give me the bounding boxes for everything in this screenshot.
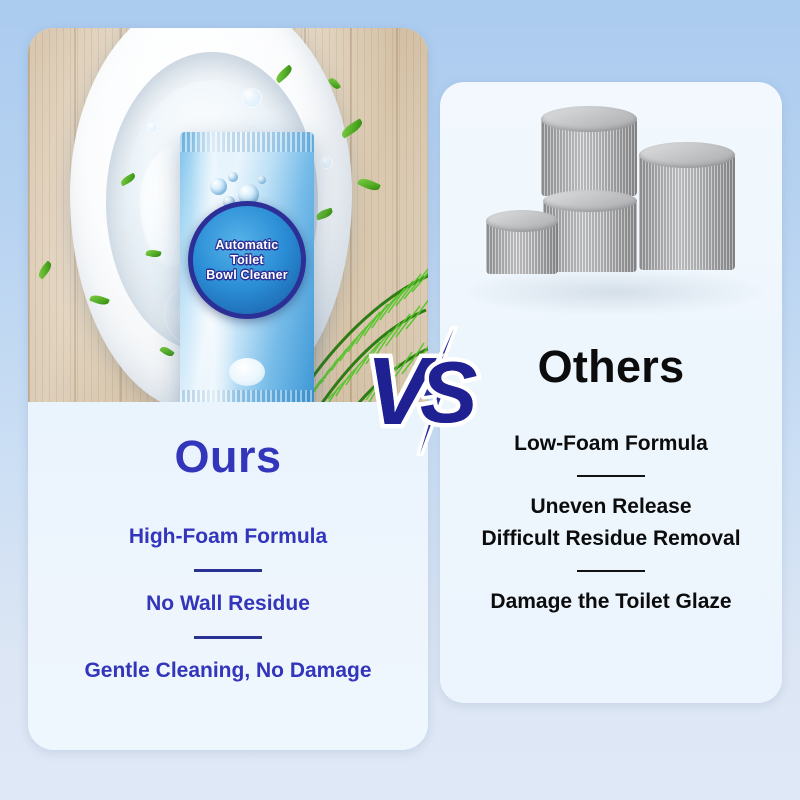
cap-shadow [458,268,768,316]
others-card[interactable]: Others Low-Foam Formula Uneven Release D… [440,82,782,703]
bottle-cap-small [486,220,558,274]
comparison-stage: Automatic Toilet Bowl Cleaner Ours High-… [0,0,800,800]
ours-separator-2 [194,636,262,639]
others-feature-1: Low-Foam Formula [514,432,708,456]
package-droplet [229,358,265,386]
bubble-icon [147,122,158,133]
ours-card[interactable]: Automatic Toilet Bowl Cleaner Ours High-… [28,28,428,750]
others-feature-2: Uneven Release [530,495,691,519]
product-package: Automatic Toilet Bowl Cleaner [180,132,314,402]
ours-separator-1 [194,569,262,572]
bottle-cap-upper [541,118,637,196]
ours-feature-3: Gentle Cleaning, No Damage [84,659,371,683]
package-label-line2: Bowl Cleaner [200,268,294,283]
package-label-line1: Automatic Toilet [193,238,301,268]
cap-top-small [486,210,558,232]
others-feature-4: Damage the Toilet Glaze [490,590,731,614]
cap-top-lower [543,190,637,212]
others-feature-3: Difficult Residue Removal [481,527,740,551]
bubble-icon [320,156,333,169]
bubble-icon [242,88,262,108]
others-feature-panel: Low-Foam Formula Uneven Release Difficul… [440,412,782,614]
ours-title: Ours [174,434,281,479]
others-product-photo [440,82,782,332]
ours-feature-2: No Wall Residue [146,592,310,616]
others-separator-1 [577,475,645,477]
others-separator-2 [577,570,645,572]
bottle-cap-right [639,154,735,270]
ours-feature-1: High-Foam Formula [129,525,327,549]
package-label-badge: Automatic Toilet Bowl Cleaner [188,201,306,319]
ours-product-photo: Automatic Toilet Bowl Cleaner [28,28,428,402]
cap-top-upper [541,106,637,132]
others-title: Others [440,344,782,389]
ours-feature-panel: Ours High-Foam Formula No Wall Residue G… [28,402,428,750]
cap-top-right [639,142,735,168]
